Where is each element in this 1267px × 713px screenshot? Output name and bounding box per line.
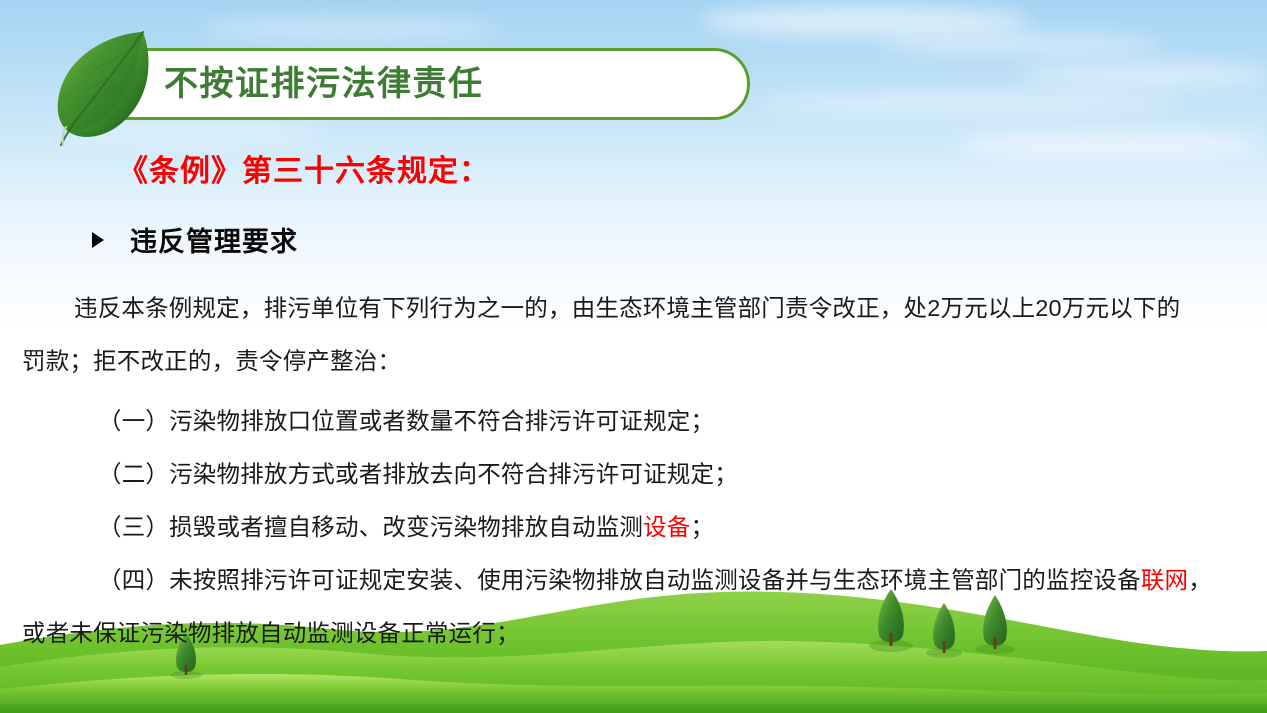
- list-item-label: （四）: [98, 567, 169, 593]
- list-item-text-tail: ；: [691, 514, 715, 540]
- list-item-label: （三）: [98, 514, 169, 540]
- intro-line1-text: 违反本条例规定，排污单位有下列行为之一的，由生态环境主管部门责令改正，处2万元以…: [74, 295, 1180, 321]
- list-item-label: （一）: [98, 408, 169, 434]
- list-item: （三）损毁或者擅自移动、改变污染物排放自动监测设备；: [22, 501, 1237, 554]
- cloud-decoration: [760, 92, 1180, 114]
- spacer: [22, 388, 1237, 395]
- body-content: 违反本条例规定，排污单位有下列行为之一的，由生态环境主管部门责令改正，处2万元以…: [22, 282, 1237, 660]
- list-item: （一）污染物排放口位置或者数量不符合排污许可证规定；: [22, 395, 1237, 448]
- list-item-text: 污染物排放口位置或者数量不符合排污许可证规定；: [169, 408, 714, 434]
- leaf-icon: [52, 28, 162, 153]
- triangle-right-icon: [92, 232, 104, 248]
- section-heading-row: 违反管理要求: [92, 220, 298, 259]
- page-title: 不按证排污法律责任: [164, 62, 724, 106]
- list-item: （二）污染物排放方式或者排放去向不符合排污许可证规定；: [22, 448, 1237, 501]
- list-item: （四）未按照排污许可证规定安装、使用污染物排放自动监测设备并与生态环境主管部门的…: [22, 554, 1237, 607]
- list-item-label: （二）: [98, 461, 169, 487]
- cloud-decoration: [700, 6, 1030, 36]
- intro-paragraph-line1: 违反本条例规定，排污单位有下列行为之一的，由生态环境主管部门责令改正，处2万元以…: [22, 282, 1237, 335]
- list-item-highlight: 设备: [643, 514, 690, 540]
- list-item-wrap-line: 或者未保证污染物排放自动监测设备正常运行；: [22, 607, 1237, 660]
- regulation-subtitle: 《条例》第三十六条规定：: [118, 146, 490, 190]
- list-item-text: 损毁或者擅自移动、改变污染物排放自动监测: [169, 514, 643, 540]
- cloud-decoration: [200, 18, 500, 40]
- cloud-decoration: [1020, 62, 1267, 88]
- cloud-decoration: [960, 130, 1260, 160]
- list-item-text-tail: ，: [1188, 567, 1212, 593]
- list-item-wrap-text: 或者未保证污染物排放自动监测设备正常运行；: [22, 620, 520, 646]
- list-item-text: 未按照排污许可证规定安装、使用污染物排放自动监测设备并与生态环境主管部门的监控设…: [169, 567, 1141, 593]
- list-item-text: 污染物排放方式或者排放去向不符合排污许可证规定；: [169, 461, 738, 487]
- intro-line2-text: 罚款；拒不改正的，责令停产整治：: [22, 348, 401, 374]
- list-item-highlight: 联网: [1141, 567, 1188, 593]
- intro-paragraph-line2: 罚款；拒不改正的，责令停产整治：: [22, 335, 1237, 388]
- slide: 不按证排污法律责任 《条例》第三十六条规定： 违反管理要求 违反本条例规定，排污…: [0, 0, 1267, 713]
- section-heading-label: 违反管理要求: [130, 220, 298, 259]
- cloud-decoration: [880, 34, 1160, 54]
